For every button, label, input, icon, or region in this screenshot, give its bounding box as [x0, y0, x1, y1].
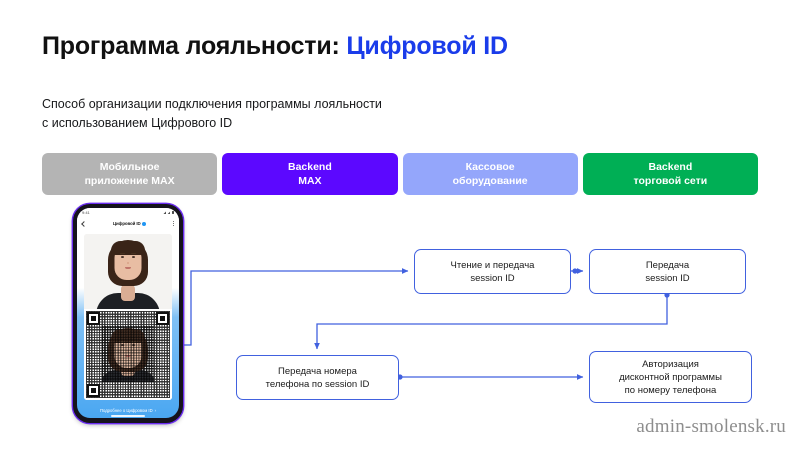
- flow-box-loyalty-authorization[interactable]: Авторизация дисконтной программы по номе…: [589, 351, 752, 403]
- lane-mobile-app-max: Мобильное приложение MAX: [42, 153, 217, 195]
- status-icons: [163, 211, 174, 214]
- flow-box-read-transfer-session-id[interactable]: Чтение и передача session ID: [414, 249, 571, 294]
- app-bar-title-text: Цифровой ID: [113, 221, 141, 226]
- page-title-accent: Цифровой ID: [346, 32, 507, 60]
- phone-screen: 9:41 Цифровой ID: [77, 208, 179, 418]
- phone-mockup: 9:41 Цифровой ID: [73, 204, 183, 423]
- back-arrow-icon[interactable]: [81, 221, 86, 226]
- page-title-main: Программа лояльности:: [42, 32, 346, 60]
- phone-more-link[interactable]: Подробнее о Цифровом ID ›: [77, 408, 179, 413]
- lane-label-line1: Кассовое: [466, 160, 515, 174]
- watermark: admin-smolensk.ru: [636, 416, 786, 438]
- verified-badge-icon: [142, 222, 146, 226]
- wifi-icon: [163, 211, 166, 214]
- portrait-photo: [84, 234, 172, 309]
- page-title: Программа лояльности: Цифровой ID: [42, 32, 508, 61]
- lane-label-line1: Backend: [648, 160, 692, 174]
- lane-backend-retail: Backend торговой сети: [583, 153, 758, 195]
- qr-finder-bottom-left-icon: [87, 384, 100, 397]
- digital-id-card: [84, 234, 172, 400]
- lane-label-line2: приложение MAX: [85, 174, 175, 188]
- lane-label-line2: торговой сети: [634, 174, 708, 188]
- home-indicator: [111, 415, 145, 417]
- flow-box-transfer-session-id[interactable]: Передача session ID: [589, 249, 746, 294]
- flow-box-transfer-phone-number[interactable]: Передача номера телефона по session ID: [236, 355, 399, 400]
- lane-backend-max: Backend MAX: [222, 153, 397, 195]
- phone-more-link-label: Подробнее о Цифровом ID: [100, 408, 153, 413]
- slide-root: Программа лояльности: Цифровой ID Способ…: [0, 0, 800, 450]
- conn-send-to-phone: [317, 294, 667, 349]
- lane-label-line2: MAX: [298, 174, 321, 188]
- phone-status-bar: 9:41: [77, 208, 179, 217]
- app-bar-title: Цифровой ID: [89, 221, 170, 226]
- qr-embedded-face: [102, 326, 154, 382]
- lane-header-bar: Мобильное приложение MAX Backend MAX Кас…: [42, 153, 758, 195]
- status-time: 9:41: [82, 210, 90, 215]
- lane-label-line1: Backend: [288, 160, 332, 174]
- lane-pos-equipment: Кассовое оборудование: [403, 153, 578, 195]
- qr-finder-top-left-icon: [87, 312, 100, 325]
- chevron-right-icon: ›: [155, 408, 156, 413]
- page-subtitle: Способ организации подключения программы…: [42, 95, 382, 133]
- lane-label-line2: оборудование: [453, 174, 528, 188]
- conn-phone-to-read: [183, 271, 408, 345]
- conn-junction-read-send: [572, 268, 577, 273]
- more-options-icon[interactable]: [173, 221, 175, 226]
- signal-icon: [167, 211, 170, 214]
- qr-code[interactable]: [84, 309, 172, 400]
- lane-label-line1: Мобильное: [100, 160, 160, 174]
- qr-finder-top-right-icon: [156, 312, 169, 325]
- battery-icon: [172, 211, 174, 214]
- phone-app-bar: Цифровой ID: [77, 217, 179, 230]
